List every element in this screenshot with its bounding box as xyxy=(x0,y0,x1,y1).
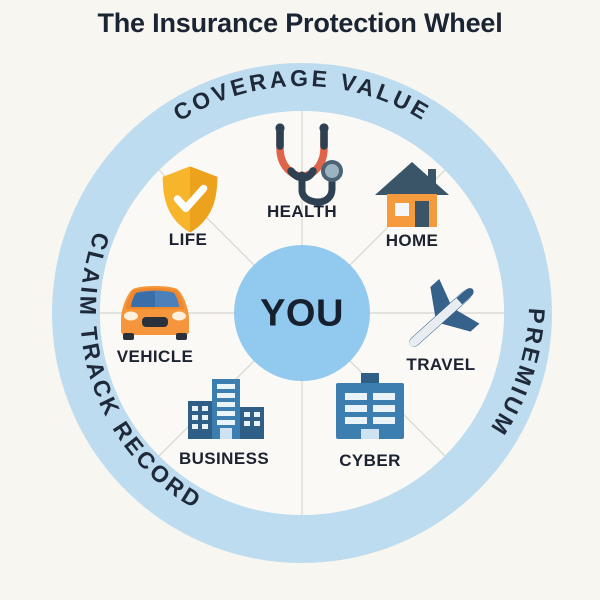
segment-label-health: HEALTH xyxy=(267,202,337,222)
segment-label-business: BUSINESS xyxy=(179,449,269,469)
segment-label-life: LIFE xyxy=(169,230,207,250)
car-icon[interactable] xyxy=(121,286,189,340)
segment-label-travel: TRAVEL xyxy=(406,355,475,375)
segment-label-vehicle: VEHICLE xyxy=(117,347,193,367)
segment-label-cyber: CYBER xyxy=(339,451,401,471)
hub-label: YOU xyxy=(260,293,344,336)
infographic-canvas: The Insurance Protection Wheel COVERAGE … xyxy=(0,0,600,600)
segment-label-home: HOME xyxy=(386,231,439,251)
